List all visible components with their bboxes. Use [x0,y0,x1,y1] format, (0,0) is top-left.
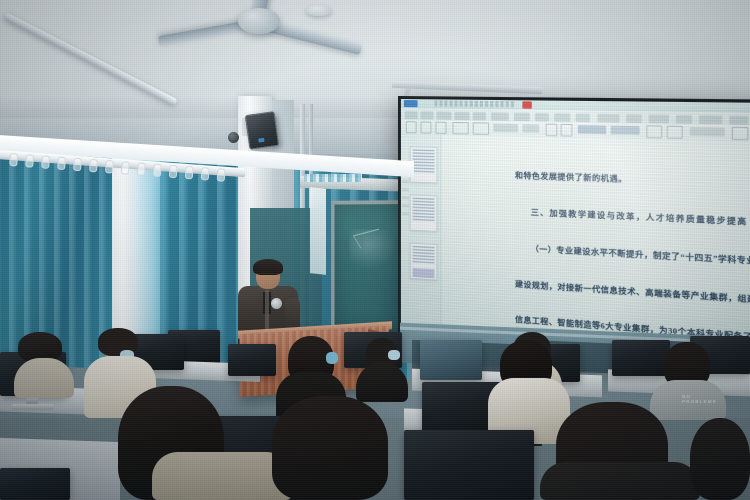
chalk-tray-items [304,174,362,182]
thumb-text-lines [413,198,435,223]
document-page[interactable]: 和特色发展提供了新的机遇。 三、加强教学建设与改革，人才培养质量稳步提高 （一）… [441,135,750,355]
wps-document-logo-icon [404,100,418,107]
desktop-monitor[interactable] [420,340,482,380]
eyeglasses-icon [257,273,279,279]
desktop-monitor[interactable] [228,344,276,376]
page-thumb-3[interactable] [410,243,438,281]
fan-hub [238,8,280,34]
desktop-monitor[interactable] [612,340,670,376]
student-sweater [152,452,292,500]
doc-line: 三、加强教学建设与改革，人才培养质量稳步提高 [515,206,750,230]
thumb-text-lines [413,246,435,265]
classroom-photo: 和特色发展提供了新的机遇。 三、加强教学建设与改革，人才培养质量稳步提高 （一）… [0,0,750,500]
speaker-led [258,138,264,143]
doc-line: 和特色发展提供了新的机遇。 [515,170,750,191]
student-jacket [14,358,74,398]
hanging-paper [310,187,326,275]
ceiling-fan-icon [176,0,346,56]
thumb-selection-highlight [413,268,435,278]
student-hair [272,396,388,500]
presenter-badge [271,298,282,309]
doc-line: （一）专业建设水平不断提升，制定了“十四五”学科专业 [515,242,750,269]
wall-speaker-icon [245,111,280,150]
page-thumb-2[interactable] [410,194,438,232]
surveillance-camera-icon [228,132,239,143]
face-mask-icon [326,352,338,364]
student-jacket [540,462,700,500]
thumb-text-lines [413,149,435,174]
jacket-print-text: NO PROBLEMS [682,394,717,404]
pane-toolbar[interactable] [402,172,409,218]
desktop-monitor[interactable] [404,430,534,500]
desktop-monitor[interactable] [0,468,70,500]
monitor-base [12,404,54,410]
doc-line: 建设规划，对接新一代信息技术、高端装备等产业集群，组建了 [515,278,750,308]
document-title-text [434,101,514,108]
student-hair [690,418,750,500]
face-mask-icon [388,350,400,360]
title-accent-badge [522,101,531,108]
